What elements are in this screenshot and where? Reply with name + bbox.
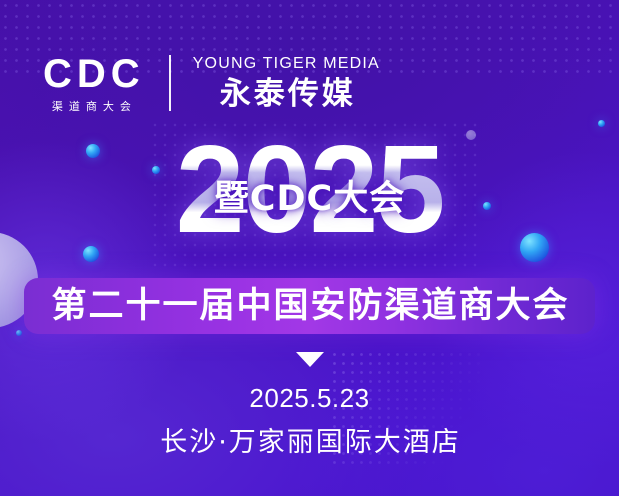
young-tiger-logo-en: YOUNG TIGER MEDIA xyxy=(193,56,380,72)
decorative-sphere-blue-6 xyxy=(598,120,605,127)
cdc-logo: CDC 渠道商大会 xyxy=(38,54,145,113)
cdc-logo-subtitle: 渠道商大会 xyxy=(46,102,137,113)
young-tiger-logo: YOUNG TIGER MEDIA 永泰传媒 xyxy=(193,56,380,110)
event-title: 第二十一届中国安防渠道商大会 xyxy=(49,289,569,324)
cdc-logo-mark: CDC xyxy=(38,54,145,94)
year-block: 2025 暨CDC大会 xyxy=(0,128,619,252)
year-overlay-text: 暨CDC大会 xyxy=(0,182,619,217)
footer-info: 2025.5.23 长沙·万家丽国际大酒店 xyxy=(0,385,619,456)
event-poster: CDC 渠道商大会 YOUNG TIGER MEDIA 永泰传媒 2025 暨C… xyxy=(0,0,619,496)
decorative-sphere-blue-7 xyxy=(16,330,22,336)
event-venue: 长沙·万家丽国际大酒店 xyxy=(0,429,619,456)
logo-divider xyxy=(169,55,171,111)
triangle-down-icon xyxy=(296,352,324,367)
event-date: 2025.5.23 xyxy=(0,385,619,411)
logo-lockup: CDC 渠道商大会 YOUNG TIGER MEDIA 永泰传媒 xyxy=(38,48,380,118)
title-banner: 第二十一届中国安防渠道商大会 xyxy=(24,278,595,334)
young-tiger-logo-cn: 永泰传媒 xyxy=(217,79,356,110)
